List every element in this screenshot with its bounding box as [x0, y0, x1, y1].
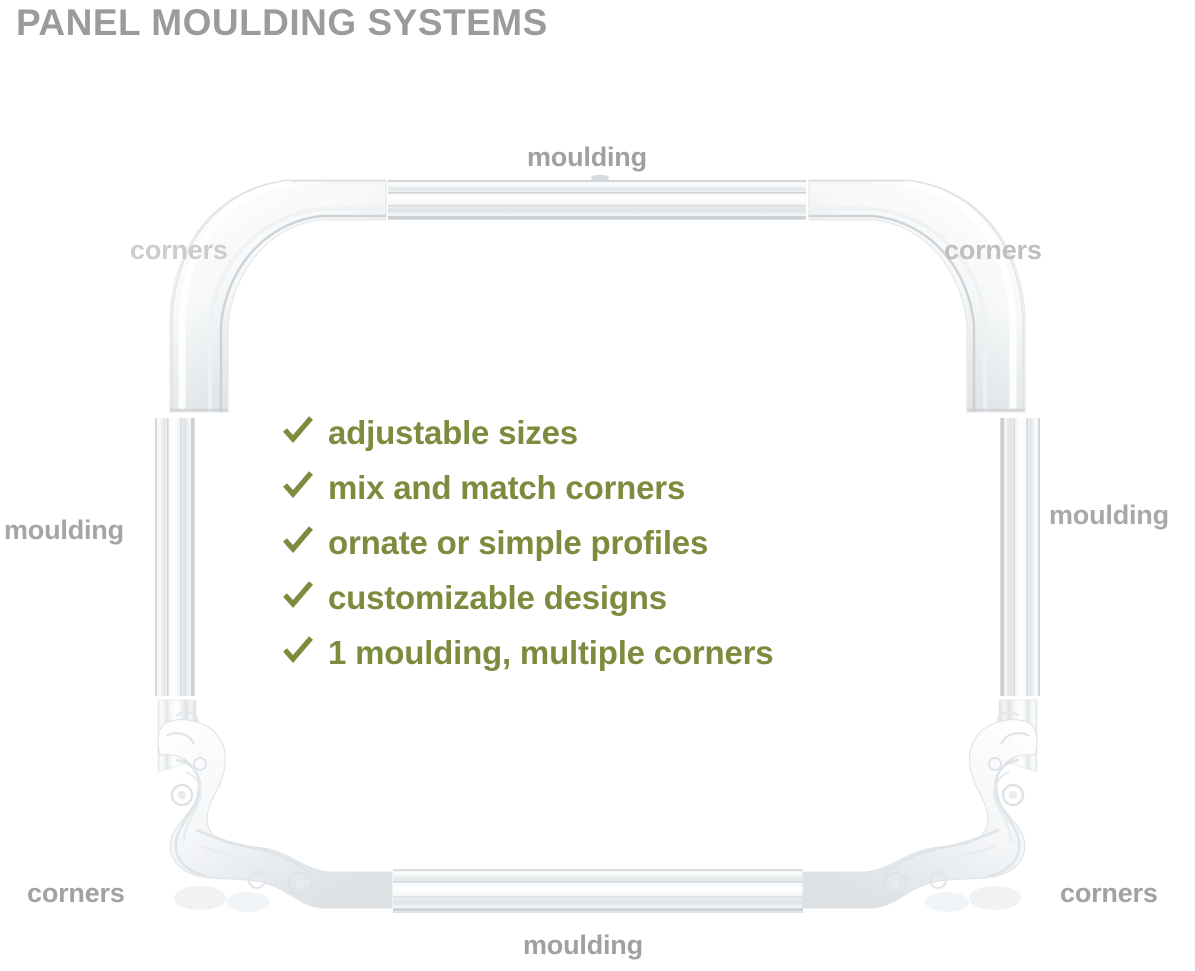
corner-piece-bottom-right-ornate	[803, 700, 1037, 912]
moulding-piece-top	[388, 175, 806, 220]
list-item: mix and match corners	[282, 460, 773, 515]
label-corner-top-right: corners	[944, 235, 1042, 266]
corner-piece-top-right	[809, 180, 1025, 412]
feature-list: adjustable sizes mix and match corners o…	[282, 405, 773, 680]
label-corner-bottom-left: corners	[27, 878, 125, 909]
check-icon	[282, 470, 328, 505]
feature-label: customizable designs	[328, 579, 667, 617]
label-top-moulding: moulding	[527, 142, 647, 173]
feature-label: adjustable sizes	[328, 414, 578, 452]
moulding-piece-left	[155, 418, 195, 696]
corner-piece-bottom-left-ornate	[158, 700, 392, 912]
corner-piece-top-left	[170, 180, 386, 412]
moulding-piece-right	[1000, 418, 1040, 696]
check-icon	[282, 580, 328, 615]
check-icon	[282, 415, 328, 450]
list-item: customizable designs	[282, 570, 773, 625]
label-bottom-moulding: moulding	[523, 930, 643, 961]
check-icon	[282, 525, 328, 560]
label-corner-top-left: corners	[130, 235, 228, 266]
check-icon	[282, 635, 328, 670]
list-item: ornate or simple profiles	[282, 515, 773, 570]
feature-label: 1 moulding, multiple corners	[328, 634, 773, 672]
feature-label: mix and match corners	[328, 469, 685, 507]
label-right-moulding: moulding	[1049, 500, 1169, 531]
list-item: adjustable sizes	[282, 405, 773, 460]
list-item: 1 moulding, multiple corners	[282, 625, 773, 680]
label-left-moulding: moulding	[4, 515, 124, 546]
label-corner-bottom-right: corners	[1060, 878, 1158, 909]
feature-label: ornate or simple profiles	[328, 524, 708, 562]
panel-moulding-infographic: PANEL MOULDING SYSTEMS	[0, 0, 1195, 971]
moulding-piece-bottom	[393, 869, 803, 913]
